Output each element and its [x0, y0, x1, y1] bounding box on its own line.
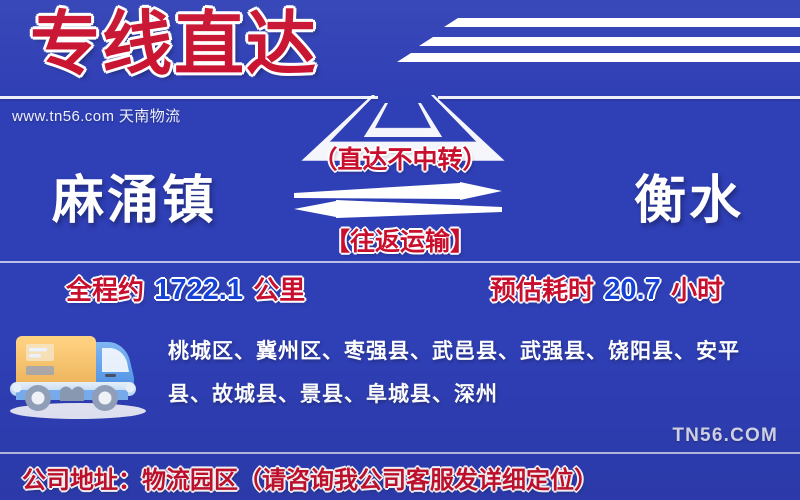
duration-unit: 小时 [671, 275, 723, 305]
site-label: www.tn56.com 天南物流 [12, 105, 181, 126]
duration-prefix: 预估耗时 [490, 275, 594, 305]
duration-value: 20.7 [601, 274, 663, 306]
destination-city: 衡水 [634, 165, 744, 237]
distance-value: 1722.1 [151, 274, 246, 306]
divider-right [438, 96, 800, 99]
arrow-left-icon [294, 200, 502, 218]
section-divider-top [0, 261, 800, 263]
footer-bar: 公司地址：物流园区（请咨询我公司客服发详细定位） [0, 455, 800, 500]
section-divider-bottom [0, 452, 800, 454]
page-title: 专线直达 [30, 0, 318, 90]
divider-left [0, 96, 378, 99]
stripe-1 [444, 18, 800, 27]
logistics-route-banner: 专线直达 www.tn56.com 天南物流 麻涌镇 （直达不中转） 【往返运输… [0, 0, 800, 500]
stripe-3 [397, 53, 800, 62]
company-address-text: 公司地址：物流园区（请咨询我公司客服发详细定位） [0, 460, 598, 495]
bidirectional-arrow-icon [288, 180, 508, 220]
delivery-truck-icon [6, 318, 156, 423]
coverage-areas-text: 桃城区、冀州区、枣强县、武邑县、武强县、饶阳县、安平县、故城县、景县、阜城县、深… [168, 330, 778, 416]
distance-stat: 全程约 1722.1 公里 [66, 270, 305, 307]
distance-prefix: 全程约 [66, 275, 144, 305]
arrow-right-icon [294, 182, 502, 200]
decorative-stripes [380, 0, 800, 80]
stripe-2 [419, 37, 800, 46]
watermark: TN56.COM [672, 425, 778, 447]
duration-stat: 预估耗时 20.7 小时 [490, 270, 723, 307]
distance-unit: 公里 [253, 275, 305, 305]
